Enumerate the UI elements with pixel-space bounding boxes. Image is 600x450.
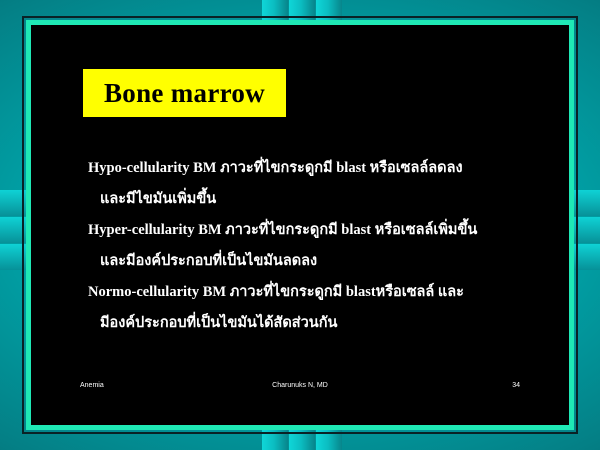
- bullet-line-primary: Hyper-cellularity BM ภาวะที่ไขกระดูกมี b…: [88, 215, 553, 246]
- list-item: Hyper-cellularity BM ภาวะที่ไขกระดูกมี b…: [88, 215, 553, 277]
- footer-author-label: Charunuks N, MD: [272, 381, 328, 391]
- bullet-line-primary: Hypo-cellularity BM ภาวะที่ไขกระดูกมี bl…: [88, 153, 553, 184]
- slide-number: 34: [512, 381, 520, 391]
- list-item: Normo-cellularity BM ภาวะที่ไขกระดูกมี b…: [88, 277, 553, 339]
- bullet-list: Hypo-cellularity BM ภาวะที่ไขกระดูกมี bl…: [88, 153, 553, 339]
- page-title: Bone marrow: [104, 80, 265, 107]
- presentation-slide: Bone marrow Hypo-cellularity BM ภาวะที่ไ…: [0, 0, 600, 450]
- slide-title-box: Bone marrow: [83, 69, 286, 117]
- bullet-line-continuation: มีองค์ประกอบที่เป็นไขมันได้สัดส่วนกัน: [88, 308, 553, 339]
- bullet-line-primary: Normo-cellularity BM ภาวะที่ไขกระดูกมี b…: [88, 277, 553, 308]
- list-item: Hypo-cellularity BM ภาวะที่ไขกระดูกมี bl…: [88, 153, 553, 215]
- bullet-line-continuation: และมีองค์ประกอบที่เป็นไขมันลดลง: [88, 246, 553, 277]
- slide-footer: Anemia Charunuks N, MD 34: [62, 372, 538, 400]
- bullet-line-continuation: และมีไขมันเพิ่มขึ้น: [88, 184, 553, 215]
- slide-content-area: Bone marrow Hypo-cellularity BM ภาวะที่ไ…: [31, 25, 569, 425]
- footer-topic-label: Anemia: [80, 381, 104, 391]
